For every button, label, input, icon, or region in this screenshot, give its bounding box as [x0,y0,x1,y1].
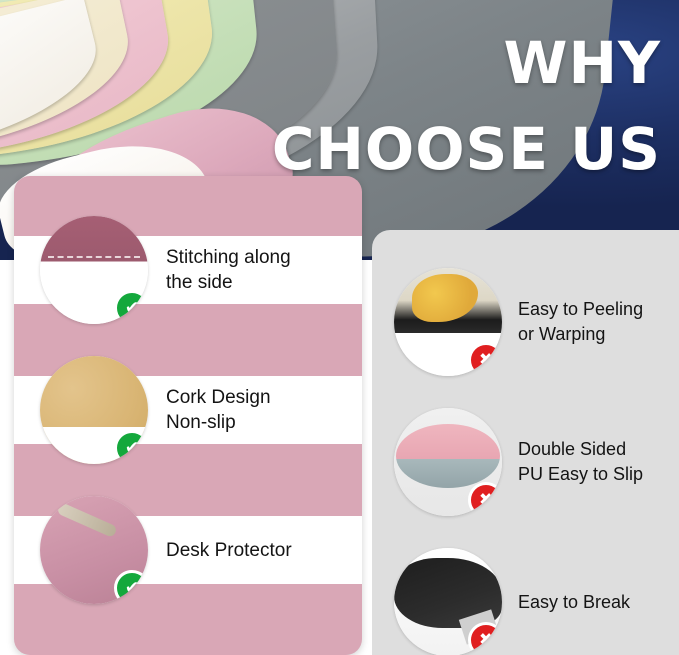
pros-panel: ✔ Stitching along the side ✔ Cork Design… [14,176,362,655]
infographic-page: WHY CHOOSE US ✔ Stitching along the side… [0,0,679,655]
pros-label-3: Desk Protector [166,538,292,563]
check-icon: ✔ [114,570,148,604]
cons-thumb-double-sided: ✖ [394,408,502,516]
pros-item-1: ✔ Stitching along the side [14,206,362,334]
cons-label-1: Easy to Peeling or Warping [518,297,643,347]
comparison-section: ✔ Stitching along the side ✔ Cork Design… [0,168,679,655]
pros-thumb-cork: ✔ [40,356,148,464]
check-icon: ✔ [114,430,148,464]
pros-label-2: Cork Design Non-slip [166,385,271,435]
cross-icon: ✖ [468,482,502,516]
cons-thumb-break: ✖ [394,548,502,655]
headline-line-1: WHY [503,34,661,92]
pros-item-3: ✔ Desk Protector [14,486,362,614]
pros-thumb-stitching: ✔ [40,216,148,324]
cons-item-2: ✖ Double Sided PU Easy to Slip [382,398,672,526]
check-icon: ✔ [114,290,148,324]
cons-label-3: Easy to Break [518,590,630,615]
cross-icon: ✖ [468,622,502,655]
cross-icon: ✖ [468,342,502,376]
pros-item-2: ✔ Cork Design Non-slip [14,346,362,474]
cons-label-2: Double Sided PU Easy to Slip [518,437,643,487]
pros-thumb-desk-protector: ✔ [40,496,148,604]
cons-thumb-peeling: ✖ [394,268,502,376]
cons-item-3: ✖ Easy to Break [382,538,672,655]
cons-item-1: ✖ Easy to Peeling or Warping [382,258,672,386]
pros-label-1: Stitching along the side [166,245,291,295]
